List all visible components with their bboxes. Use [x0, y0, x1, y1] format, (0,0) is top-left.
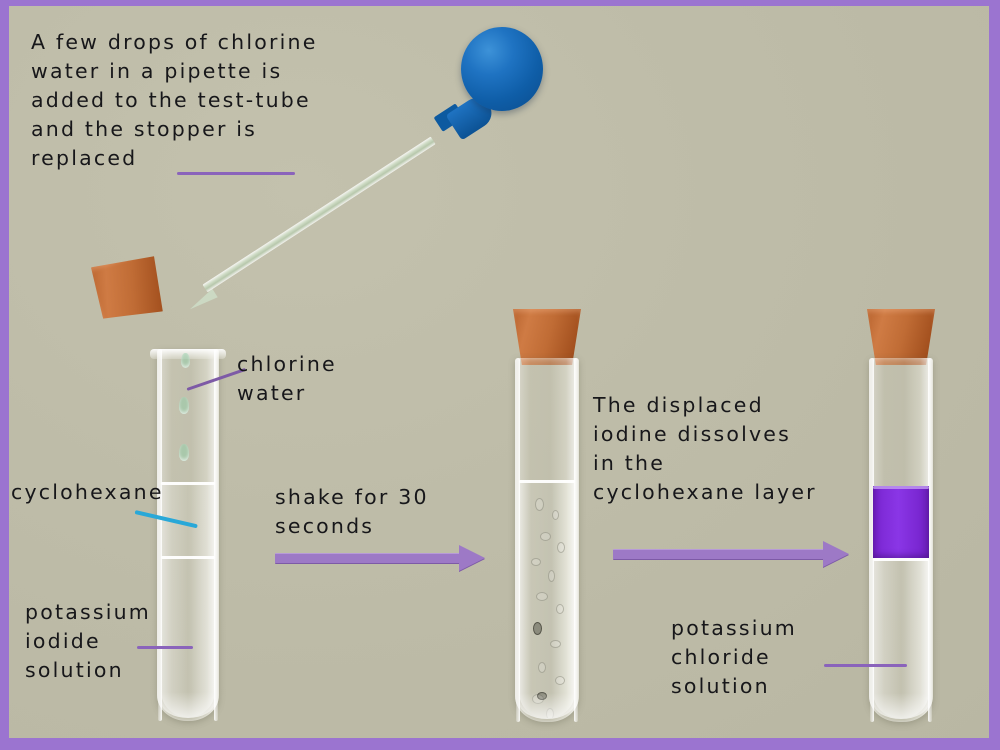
emulsion-bubble — [557, 542, 565, 553]
potassium-chloride-pointer-line — [824, 664, 907, 667]
emulsion-bubble — [555, 676, 565, 685]
emulsion-bubble — [552, 510, 559, 520]
figure-frame: A few drops of chlorine water in a pipet… — [0, 0, 1000, 750]
pipette-bulb-icon — [461, 27, 543, 111]
iodine-layer-surface-line — [873, 486, 929, 489]
emulsion-bubble — [548, 570, 555, 582]
cyclohexane-label: cyclohexane — [11, 478, 231, 507]
chlorine-droplet — [179, 444, 189, 461]
emulsion-bubble — [535, 498, 544, 511]
shake-arrow-shaft — [275, 553, 461, 564]
chlorine-water-label: chlorine water — [237, 350, 407, 408]
test-tube-2-cork-stopper-icon — [513, 309, 581, 365]
potassium-iodide-surface-line — [161, 556, 215, 559]
shake-arrow-head — [459, 545, 485, 571]
emulsion-bubble — [550, 640, 561, 648]
emulsion-bubble — [556, 604, 564, 614]
chlorine-droplet — [181, 353, 190, 368]
potassium-chloride-label: potassium chloride solution — [671, 614, 891, 701]
result-arrow-shaft — [613, 549, 825, 560]
test-tube-3-cork-stopper-icon — [867, 309, 935, 365]
intro-instruction-text: A few drops of chlorine water in a pipet… — [31, 28, 431, 174]
potassium-chloride-surface-line — [873, 558, 929, 561]
result-arrow-head — [823, 541, 849, 567]
iodine-in-cyclohexane-layer — [873, 486, 929, 558]
emulsion-bubble — [531, 558, 541, 566]
emulsion-bubble — [540, 532, 551, 541]
removed-cork-stopper-icon — [87, 246, 175, 329]
shake-instruction-label: shake for 30 seconds — [275, 483, 505, 541]
intro-pointer-line — [177, 172, 295, 175]
potassium-iodide-label: potassium iodide solution — [25, 598, 225, 685]
chlorine-droplet — [179, 397, 189, 414]
emulsion-bubble — [538, 662, 546, 673]
test-tube-shaken — [515, 358, 579, 722]
emulsion-bubble — [533, 622, 542, 635]
displaced-iodine-text: The displaced iodine dissolves in the cy… — [593, 391, 863, 507]
figure-canvas: A few drops of chlorine water in a pipet… — [9, 6, 989, 738]
pipette-tip-icon — [187, 289, 218, 314]
emulsion-bubble — [536, 592, 548, 601]
mixed-emulsion-surface-line — [519, 480, 575, 483]
mixed-emulsion-layer — [519, 480, 575, 718]
potassium-iodide-pointer-line — [137, 646, 193, 649]
